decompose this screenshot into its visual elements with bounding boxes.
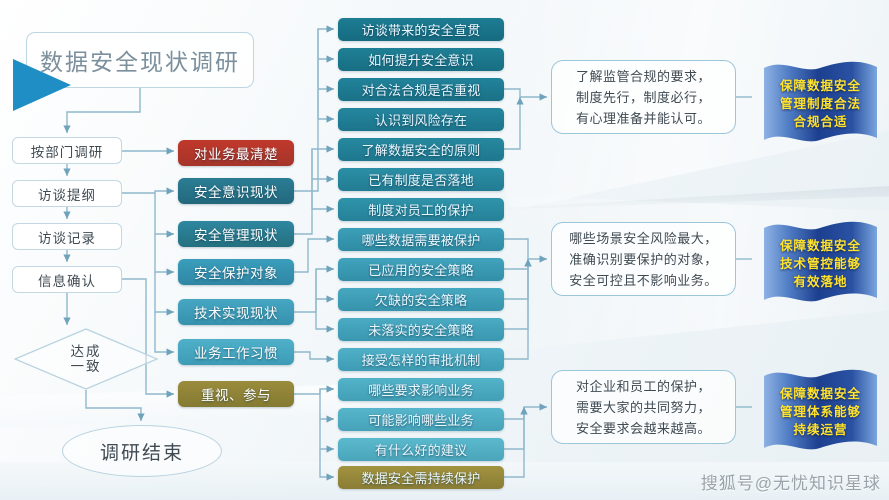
question-item-5[interactable]: 了解数据安全的原则	[338, 138, 504, 161]
ribbon-2-line-3: 有效落地	[793, 273, 847, 291]
callout-1-line-3: 有心理准备并能认可。	[576, 108, 711, 129]
callout-1-line-2: 制度先行，制度必行，	[576, 87, 711, 108]
question-item-10[interactable]: 欠缺的安全策略	[338, 288, 504, 311]
question-item-4[interactable]: 认识到风险存在	[338, 108, 504, 131]
callout-3: 对企业和员工的保护， 需要大家的共同努力， 安全要求会越来越高。	[551, 370, 736, 444]
callout-2-line-3: 安全可控且不影响业务。	[569, 270, 718, 291]
question-item-14-label: 可能影响哪些业务	[368, 410, 474, 429]
end-node-label: 调研结束	[100, 438, 184, 465]
question-item-11-label: 未落实的安全策略	[368, 320, 474, 339]
decision-node[interactable]: 达成 一致	[14, 328, 158, 390]
ribbon-banner-3-text: 保障数据安全 管理体系能够 持续运营	[762, 366, 879, 458]
question-item-9-label: 已应用的安全策略	[368, 260, 474, 279]
process-step-3-label: 访谈记录	[38, 227, 96, 247]
process-step-4[interactable]: 信息确认	[12, 266, 122, 293]
callout-2-line-2: 准确识别要保护的对象，	[569, 249, 718, 270]
topic-item-6-label: 业务工作习惯	[194, 342, 278, 362]
question-item-3-label: 对合法合规是否重视	[362, 80, 481, 99]
ribbon-2-line-1: 保障数据安全	[780, 237, 861, 255]
topic-item-2[interactable]: 安全意识现状	[178, 178, 294, 204]
question-item-1-label: 访谈带来的安全宣贯	[362, 20, 481, 39]
slide-canvas: 数据安全现状调研 按部门调研 访谈提纲 访谈记录 信息确认 达成 一致 调研结束…	[0, 0, 889, 500]
process-step-1[interactable]: 按部门调研	[12, 137, 122, 164]
question-item-8-label: 哪些数据需要被保护	[362, 230, 481, 249]
question-item-16[interactable]: 数据安全需持续保护	[338, 466, 504, 489]
question-item-3[interactable]: 对合法合规是否重视	[338, 78, 504, 101]
topic-item-6[interactable]: 业务工作习惯	[178, 339, 294, 365]
question-item-14[interactable]: 可能影响哪些业务	[338, 408, 504, 431]
topic-item-3[interactable]: 安全管理现状	[178, 221, 294, 247]
decision-node-label: 达成 一致	[14, 328, 158, 390]
ribbon-1-line-2: 管理制度合法	[780, 95, 861, 113]
callout-3-line-2: 需要大家的共同努力，	[576, 397, 711, 418]
process-step-1-label: 按部门调研	[31, 141, 104, 161]
process-step-4-label: 信息确认	[38, 270, 96, 290]
decision-line-2: 一致	[71, 359, 102, 374]
page-title: 数据安全现状调研	[26, 32, 254, 88]
process-step-3[interactable]: 访谈记录	[12, 223, 122, 250]
ribbon-banner-1: 保障数据安全 管理制度合法 合规合适	[762, 58, 879, 150]
callout-2: 哪些场景安全风险最大， 准确识别要保护的对象， 安全可控且不影响业务。	[551, 222, 736, 296]
ribbon-banner-3: 保障数据安全 管理体系能够 持续运营	[762, 366, 879, 458]
callout-1: 了解监管合规的要求， 制度先行，制度必行， 有心理准备并能认可。	[551, 60, 736, 134]
question-item-2-label: 如何提升安全意识	[368, 50, 474, 69]
ribbon-1-line-1: 保障数据安全	[780, 77, 861, 95]
question-item-15[interactable]: 有什么好的建议	[338, 438, 504, 461]
ribbon-banner-2: 保障数据安全 技术管控能够 有效落地	[762, 218, 879, 310]
topic-item-7-label: 重视、参与	[201, 384, 271, 404]
question-item-12[interactable]: 接受怎样的审批机制	[338, 348, 504, 371]
ribbon-2-line-2: 技术管控能够	[780, 255, 861, 273]
topic-item-4[interactable]: 安全保护对象	[178, 259, 294, 285]
topic-item-1-label: 对业务最清楚	[194, 143, 278, 163]
callout-1-line-1: 了解监管合规的要求，	[576, 66, 711, 87]
topic-item-1[interactable]: 对业务最清楚	[178, 140, 294, 166]
callout-2-line-1: 哪些场景安全风险最大，	[569, 228, 718, 249]
end-node[interactable]: 调研结束	[62, 425, 222, 477]
question-item-2[interactable]: 如何提升安全意识	[338, 48, 504, 71]
question-item-8[interactable]: 哪些数据需要被保护	[338, 228, 504, 251]
decorative-arrow-icon	[13, 59, 71, 111]
ribbon-3-line-3: 持续运营	[793, 421, 847, 439]
question-item-7-label: 制度对员工的保护	[368, 200, 474, 219]
topic-item-5[interactable]: 技术实现现状	[178, 299, 294, 325]
topic-item-3-label: 安全管理现状	[194, 224, 278, 244]
watermark: 搜狐号@无忧知识星球	[701, 469, 881, 494]
ribbon-banner-1-text: 保障数据安全 管理制度合法 合规合适	[762, 58, 879, 150]
question-item-5-label: 了解数据安全的原则	[362, 140, 481, 159]
callout-3-line-1: 对企业和员工的保护，	[576, 376, 711, 397]
topic-item-4-label: 安全保护对象	[194, 262, 278, 282]
process-step-2[interactable]: 访谈提纲	[12, 180, 122, 207]
question-item-7[interactable]: 制度对员工的保护	[338, 198, 504, 221]
ribbon-banner-2-text: 保障数据安全 技术管控能够 有效落地	[762, 218, 879, 310]
topic-item-5-label: 技术实现现状	[194, 302, 278, 322]
question-item-6-label: 已有制度是否落地	[368, 170, 474, 189]
question-item-12-label: 接受怎样的审批机制	[362, 350, 481, 369]
decision-line-1: 达成	[71, 344, 102, 359]
question-item-13[interactable]: 哪些要求影响业务	[338, 378, 504, 401]
question-item-6[interactable]: 已有制度是否落地	[338, 168, 504, 191]
question-item-4-label: 认识到风险存在	[375, 110, 467, 129]
callout-3-line-3: 安全要求会越来越高。	[576, 418, 711, 439]
question-item-1[interactable]: 访谈带来的安全宣贯	[338, 18, 504, 41]
question-item-9[interactable]: 已应用的安全策略	[338, 258, 504, 281]
ribbon-3-line-2: 管理体系能够	[780, 403, 861, 421]
question-item-15-label: 有什么好的建议	[375, 440, 467, 459]
question-item-13-label: 哪些要求影响业务	[368, 380, 474, 399]
question-item-16-label: 数据安全需持续保护	[362, 468, 481, 487]
ribbon-1-line-3: 合规合适	[793, 113, 847, 131]
question-item-10-label: 欠缺的安全策略	[375, 290, 467, 309]
ribbon-3-line-1: 保障数据安全	[780, 385, 861, 403]
topic-item-2-label: 安全意识现状	[194, 181, 278, 201]
topic-item-7[interactable]: 重视、参与	[178, 381, 294, 407]
process-step-2-label: 访谈提纲	[38, 184, 96, 204]
question-item-11[interactable]: 未落实的安全策略	[338, 318, 504, 341]
